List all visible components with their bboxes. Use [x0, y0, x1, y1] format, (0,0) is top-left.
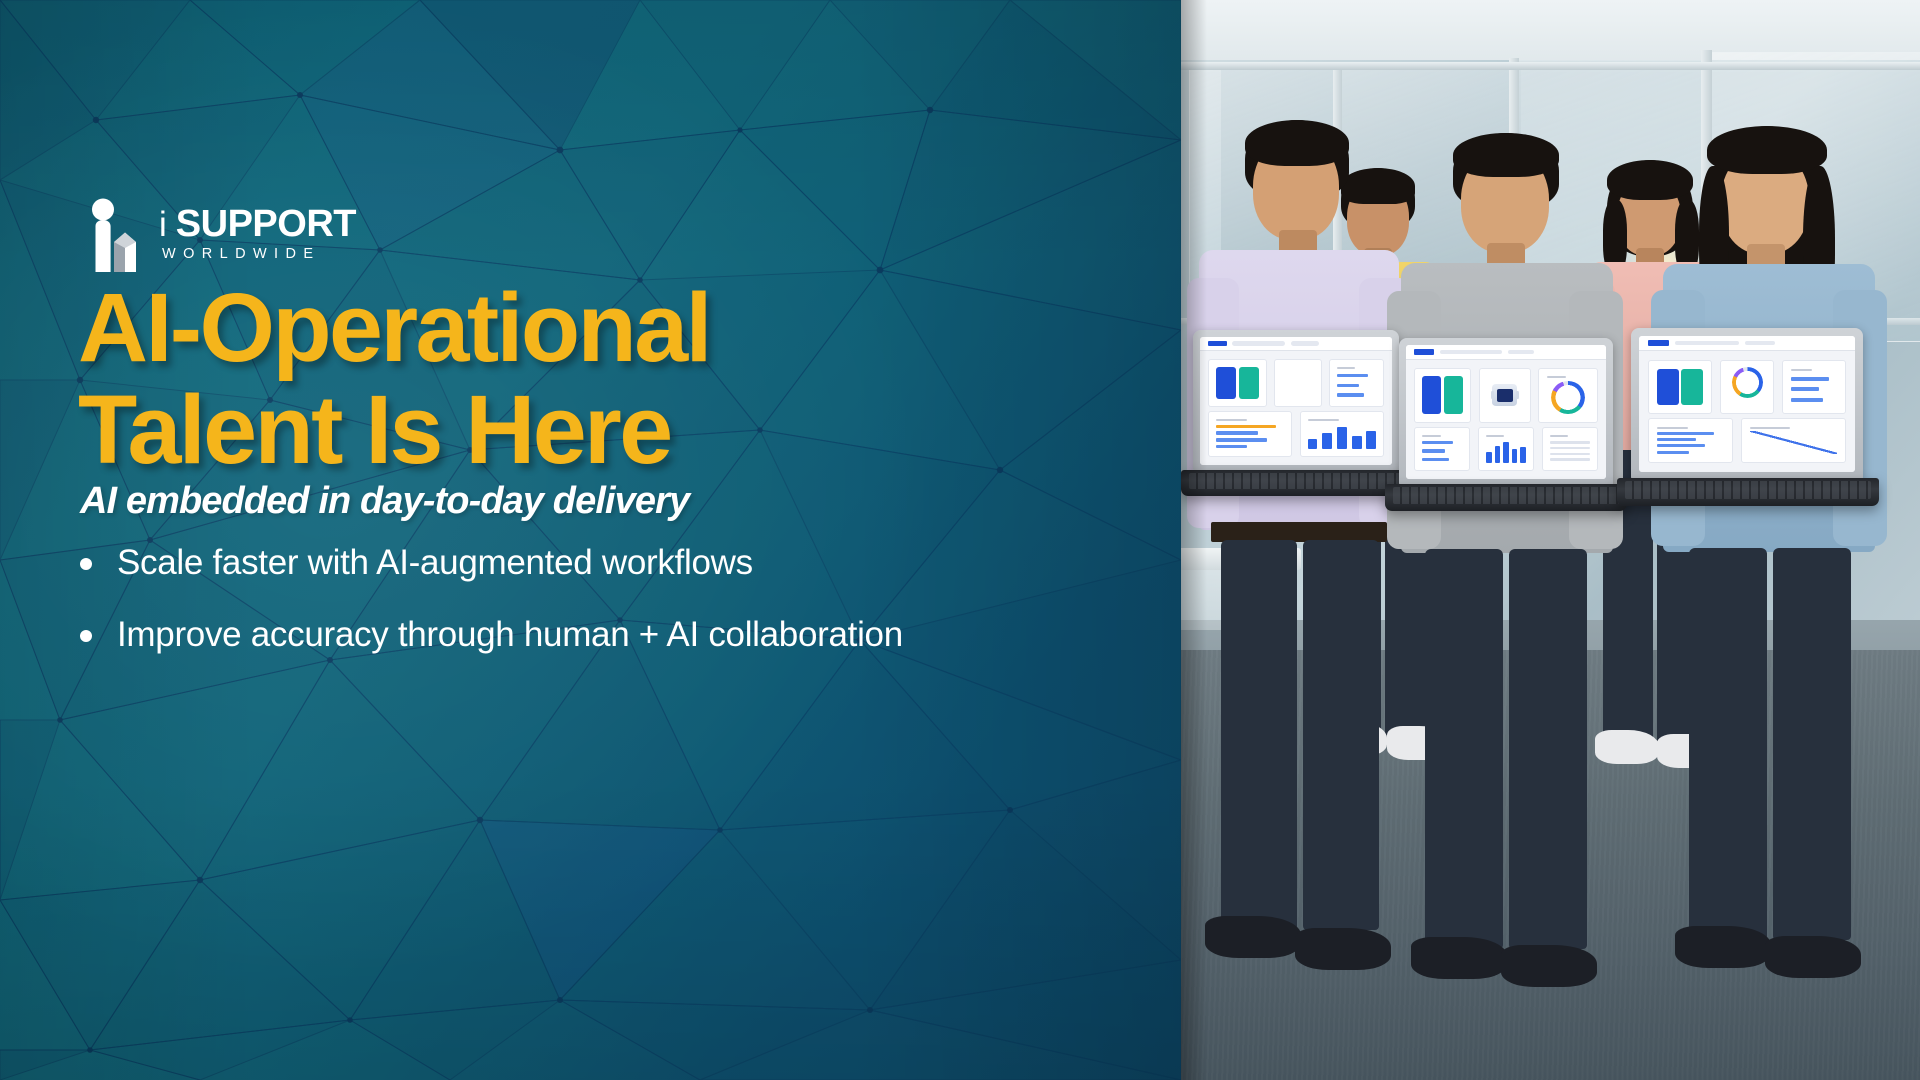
bullet-dot-icon — [80, 630, 92, 642]
headline-line-2: Talent Is Here — [78, 379, 1038, 481]
logo-prefix: i — [159, 209, 167, 241]
brand-logo[interactable]: i SUPPORT WORLDWIDE — [78, 196, 356, 272]
bullet-text: Scale faster with AI-augmented workflows — [117, 540, 753, 586]
marketing-banner: .tri{stroke:#0a3f63;stroke-width:1;} .ln… — [0, 0, 1920, 1080]
laptop-right — [1631, 328, 1881, 528]
laptop-left — [1193, 330, 1413, 520]
window-rail — [1181, 62, 1920, 70]
laptop-dashboard-left — [1200, 337, 1392, 465]
logo-wordmark: i SUPPORT WORLDWIDE — [159, 207, 356, 272]
bullet-dot-icon — [80, 558, 92, 570]
left-content-panel: .tri{stroke:#0a3f63;stroke-width:1;} .ln… — [0, 0, 1181, 1080]
laptop-center — [1399, 338, 1629, 533]
logo-subtitle: WORLDWIDE — [162, 246, 356, 262]
benefit-list: Scale faster with AI-augmented workflows… — [80, 540, 980, 683]
laptop-dashboard-center — [1406, 345, 1606, 479]
hero-headline: AI-Operational Talent Is Here — [78, 277, 1038, 482]
logo-main-text: SUPPORT — [176, 207, 356, 241]
person-front-right — [1651, 118, 1901, 948]
hero-content: i SUPPORT WORLDWIDE AI-Operational Talen… — [78, 0, 1088, 1080]
team-photo — [1181, 0, 1920, 1080]
laptop-dashboard-right — [1639, 336, 1855, 472]
hero-subheadline: AI embedded in day-to-day delivery — [80, 480, 689, 523]
list-item: Improve accuracy through human + AI coll… — [80, 612, 980, 658]
list-item: Scale faster with AI-augmented workflows — [80, 540, 980, 586]
bullet-text: Improve accuracy through human + AI coll… — [117, 612, 903, 658]
person-figure-logo-icon — [78, 196, 142, 272]
person-front-center — [1391, 125, 1631, 945]
headline-line-1: AI-Operational — [78, 277, 1038, 379]
